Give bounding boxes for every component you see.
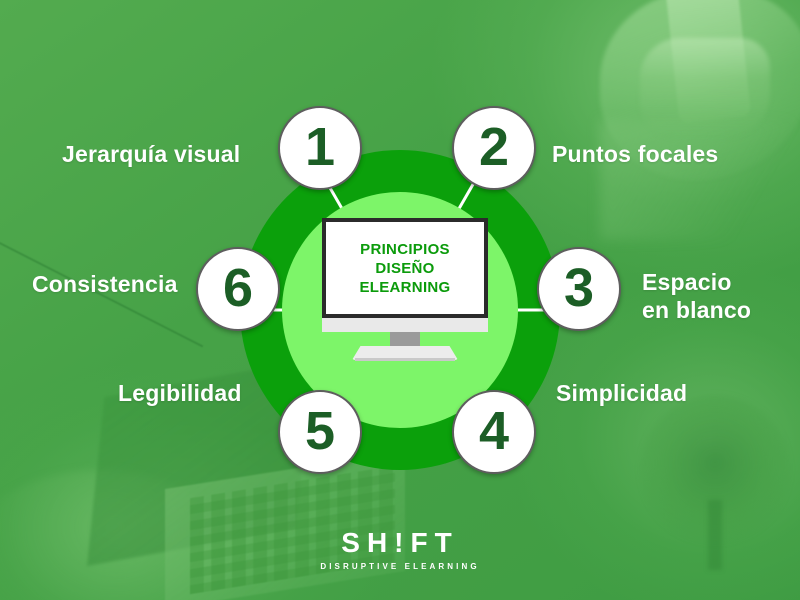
title-line-3: ELEARNING (359, 278, 450, 297)
label-item-3-line-2: en blanco (642, 296, 792, 324)
label-item-6: Consistencia (32, 270, 178, 298)
number-circle-6-value: 6 (223, 261, 253, 315)
label-item-2: Puntos focales (552, 140, 718, 168)
title-line-2: DISEÑO (375, 259, 434, 278)
number-circle-4[interactable]: 4 (452, 390, 536, 474)
label-item-5: Legibilidad (118, 379, 242, 407)
number-circle-3-value: 3 (564, 261, 594, 315)
number-circle-1-value: 1 (305, 120, 335, 174)
infographic-canvas: PRINCIPIOS DISEÑO ELEARNING 1 2 3 4 5 6 … (0, 0, 800, 600)
brand-logo: SH!FT DISRUPTIVE ELEARNING (0, 528, 800, 574)
number-circle-2-value: 2 (479, 120, 509, 174)
monitor-screen: PRINCIPIOS DISEÑO ELEARNING (326, 222, 484, 314)
number-circle-1[interactable]: 1 (278, 106, 362, 190)
background-fingers-shape (640, 38, 770, 138)
monitor-illustration: PRINCIPIOS DISEÑO ELEARNING (322, 218, 488, 363)
number-circle-2[interactable]: 2 (452, 106, 536, 190)
brand-logo-name: SH!FT (0, 528, 800, 558)
number-circle-6[interactable]: 6 (196, 247, 280, 331)
number-circle-5[interactable]: 5 (278, 390, 362, 474)
label-item-3: Espacio en blanco (642, 268, 792, 324)
number-circle-3[interactable]: 3 (537, 247, 621, 331)
monitor-bezel: PRINCIPIOS DISEÑO ELEARNING (322, 218, 488, 318)
monitor-neck (390, 332, 420, 348)
label-item-3-line-1: Espacio (642, 268, 792, 296)
label-item-1: Jerarquía visual (62, 140, 240, 168)
monitor-chin (322, 318, 488, 332)
number-circle-5-value: 5 (305, 404, 335, 458)
monitor-base-shadow (355, 358, 455, 361)
brand-logo-tagline: DISRUPTIVE ELEARNING (0, 560, 800, 574)
label-item-4: Simplicidad (556, 379, 687, 407)
number-circle-4-value: 4 (479, 404, 509, 458)
title-line-1: PRINCIPIOS (360, 240, 450, 259)
